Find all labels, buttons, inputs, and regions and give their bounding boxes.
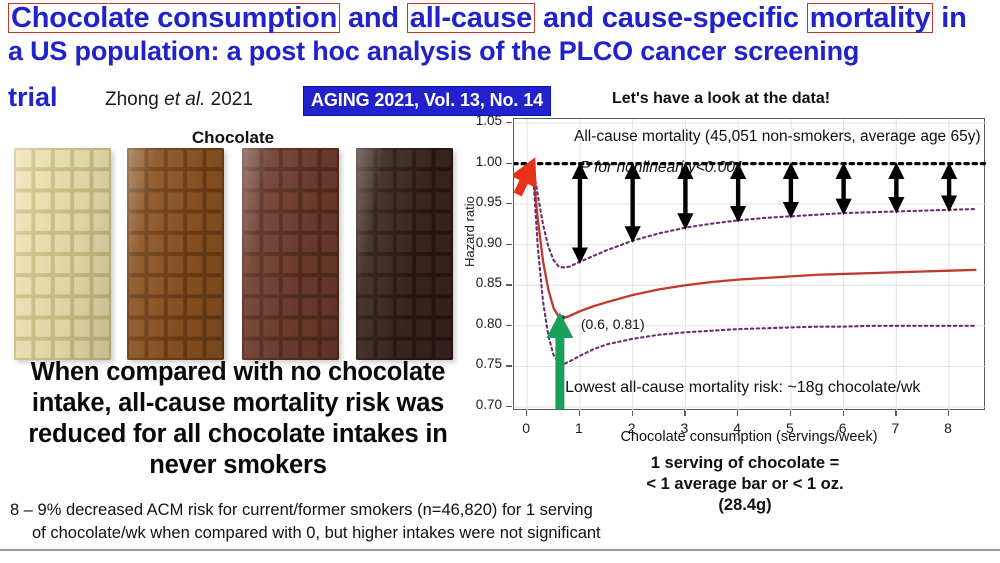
y-tick-mark bbox=[506, 406, 512, 407]
bar-sheen bbox=[356, 148, 453, 360]
author-year: 2021 bbox=[205, 89, 253, 110]
dark-milk-chocolate-bar bbox=[242, 148, 339, 360]
author-name: Zhong bbox=[105, 89, 164, 110]
y-tick-mark bbox=[506, 203, 512, 204]
title-highlight-mortality: mortality bbox=[807, 3, 934, 33]
serving-size-note: 1 serving of chocolate = < 1 average bar… bbox=[600, 453, 890, 516]
title-text-and-1: and bbox=[340, 2, 407, 34]
y-tick-mark bbox=[506, 325, 512, 326]
y-tick-label: 1.00 bbox=[476, 154, 502, 169]
y-tick-mark bbox=[506, 365, 512, 366]
title-highlight-chocolate-consumption: Chocolate consumption bbox=[8, 3, 340, 33]
serving-note-line-2: < 1 average bar or < 1 oz. bbox=[600, 474, 890, 495]
footnote-line-1: 8 – 9% decreased ACM risk for current/fo… bbox=[10, 501, 593, 519]
key-statement: When compared with no chocolate intake, … bbox=[4, 357, 472, 481]
hazard-ratio-chart: Hazard ratio 0.700.750.800.850.900.951.0… bbox=[466, 115, 994, 445]
series-hazard-ratio-spline- bbox=[532, 164, 975, 318]
series-lower-95-ci bbox=[532, 164, 975, 364]
y-tick-label: 0.90 bbox=[476, 235, 502, 250]
y-tick-mark bbox=[506, 163, 512, 164]
chart-plot-area: All-cause mortality (45,051 non-smokers,… bbox=[513, 118, 985, 410]
bottom-divider bbox=[0, 549, 1000, 551]
title-block: Chocolate consumption and all-cause and … bbox=[8, 2, 992, 67]
y-tick-mark bbox=[506, 284, 512, 285]
title-text-in: in bbox=[933, 2, 966, 34]
milk-chocolate-bar bbox=[127, 148, 224, 360]
y-tick-mark bbox=[506, 244, 512, 245]
y-tick-label: 0.80 bbox=[476, 316, 502, 331]
chart-y-axis-ticks: 0.700.750.800.850.900.951.001.05 bbox=[466, 115, 512, 415]
chart-p-value-annotation: P for nonlinearity<0.001 bbox=[580, 159, 744, 177]
chart-title: All-cause mortality (45,051 non-smokers,… bbox=[574, 128, 981, 146]
journal-badge: AGING 2021, Vol. 13, No. 14 bbox=[303, 86, 551, 116]
y-tick-mark bbox=[506, 122, 512, 123]
chocolate-bars-image bbox=[8, 148, 463, 360]
y-tick-label: 0.75 bbox=[476, 356, 502, 371]
serving-note-line-1: 1 serving of chocolate = bbox=[600, 453, 890, 474]
serving-note-line-3: (28.4g) bbox=[600, 495, 890, 516]
author-etal: et al. bbox=[164, 89, 205, 110]
nadir-point-label: (0.6, 0.81) bbox=[581, 316, 645, 332]
dark-chocolate-bar bbox=[356, 148, 453, 360]
chocolate-caption: Chocolate bbox=[0, 128, 466, 148]
series-upper-95-ci bbox=[532, 164, 975, 268]
chart-x-axis-label: Chocolate consumption (servings/week) bbox=[513, 429, 985, 445]
y-tick-label: 1.05 bbox=[476, 113, 502, 128]
bar-sheen bbox=[14, 148, 111, 360]
title-line-3: trial bbox=[8, 82, 58, 113]
white-chocolate-bar bbox=[14, 148, 111, 360]
title-line-2: a US population: a post hoc analysis of … bbox=[8, 35, 992, 67]
authors-citation: Zhong et al. 2021 bbox=[105, 89, 253, 111]
red-arrow-reference-point bbox=[518, 168, 531, 195]
bar-sheen bbox=[242, 148, 339, 360]
title-line-1: Chocolate consumption and all-cause and … bbox=[8, 2, 992, 35]
lowest-risk-annotation: Lowest all-cause mortality risk: ~18g ch… bbox=[565, 379, 920, 397]
y-tick-label: 0.95 bbox=[476, 194, 502, 209]
y-tick-label: 0.70 bbox=[476, 397, 502, 412]
title-highlight-all-cause: all-cause bbox=[407, 3, 535, 33]
footnote-line-2: of chocolate/wk when compared with 0, bu… bbox=[10, 522, 710, 545]
call-to-action-text: Let's have a look at the data! bbox=[612, 90, 830, 108]
bar-sheen bbox=[127, 148, 224, 360]
title-text-and-2: and cause-specific bbox=[535, 2, 807, 34]
y-tick-label: 0.85 bbox=[476, 275, 502, 290]
slide-root: Chocolate consumption and all-cause and … bbox=[0, 0, 1000, 563]
nadir-marker bbox=[560, 315, 565, 320]
